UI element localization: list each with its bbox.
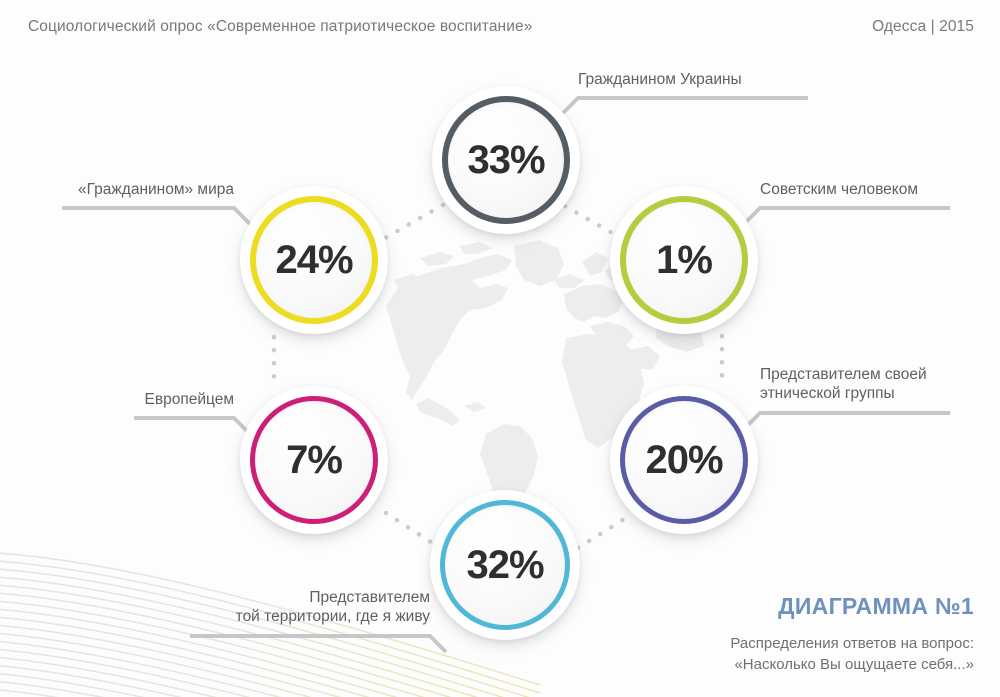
- callout-label: Советским человеком: [760, 180, 918, 199]
- callout-world-citizen: «Гражданином» мира: [60, 180, 252, 230]
- callout-label: Представителем: [188, 588, 430, 607]
- node-soviet-person[interactable]: 1%: [610, 186, 758, 334]
- node-ring: 1%: [620, 196, 748, 324]
- diagram-subtitle: Распределения ответов на вопрос: «Наскол…: [730, 633, 974, 675]
- node-value: 20%: [645, 440, 722, 480]
- node-value: 32%: [466, 545, 543, 585]
- callout-label: «Гражданином» мира: [60, 180, 234, 199]
- node-value: 33%: [467, 140, 544, 180]
- diagram-subtitle-line2: «Насколько Вы ощущаете себя...»: [730, 654, 974, 675]
- callout-label: Гражданином Украины: [578, 70, 742, 89]
- node-territory[interactable]: 32%: [430, 490, 580, 640]
- node-ring: 7%: [250, 396, 378, 524]
- node-european[interactable]: 7%: [240, 386, 388, 534]
- node-world-citizen[interactable]: 24%: [240, 186, 388, 334]
- node-ring: 33%: [442, 96, 570, 224]
- diagram-number-title: ДИАГРАММА №1: [778, 593, 974, 620]
- callout-ethnic-group: Представителем своей этнической группы: [742, 365, 952, 435]
- callout-label-line2: той территории, где я живу: [188, 607, 430, 626]
- callout-european: Европейцем: [132, 390, 252, 440]
- node-value: 1%: [656, 240, 712, 280]
- node-ring: 24%: [250, 196, 378, 324]
- callout-citizen-ukraine: Гражданином Украины: [560, 70, 810, 120]
- infographic-page: Социологический опрос «Современное патри…: [0, 0, 1000, 697]
- node-value: 7%: [286, 440, 342, 480]
- callout-territory: Представителем той территории, где я жив…: [188, 588, 448, 658]
- node-value: 24%: [275, 240, 352, 280]
- node-ethnic-group[interactable]: 20%: [610, 386, 758, 534]
- callout-label: Европейцем: [132, 390, 234, 409]
- callout-label-line2: этнической группы: [760, 384, 895, 403]
- diagram-subtitle-line1: Распределения ответов на вопрос:: [730, 633, 974, 654]
- node-ring: 20%: [620, 396, 748, 524]
- callout-soviet-person: Советским человеком: [742, 180, 952, 230]
- node-ring: 32%: [440, 500, 570, 630]
- node-citizen-ukraine[interactable]: 33%: [432, 86, 580, 234]
- callout-label: Представителем своей: [760, 365, 927, 384]
